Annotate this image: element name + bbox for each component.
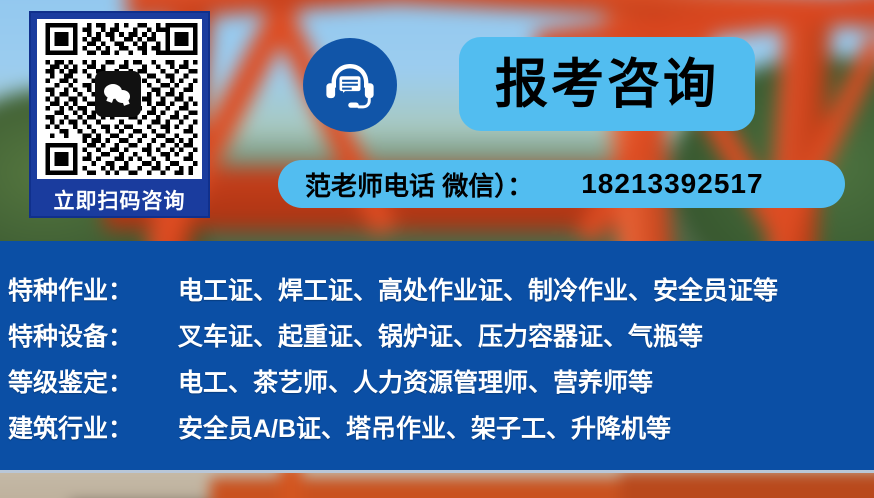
category-row-special-equipment: 特种设备： 叉车证、起重证、锅炉证、压力容器证、气瓶等 <box>8 317 874 363</box>
promo-poster: 立即扫码咨询 报考咨询 范老师电话 微信）： 18213392517 特种作业：… <box>0 0 874 498</box>
category-name: 等级鉴定： <box>8 363 178 399</box>
category-row-construction-industry: 建筑行业： 安全员A/B证、塔吊作业、架子工、升降机等 <box>8 409 874 455</box>
qr-code-card[interactable]: 立即扫码咨询 <box>29 11 210 218</box>
category-name: 建筑行业： <box>8 409 178 445</box>
category-items: 电工、茶艺师、人力资源管理师、营养师等 <box>178 363 653 399</box>
footer-post <box>280 470 302 498</box>
headset-glyph <box>322 57 378 113</box>
footer-edge-line <box>0 470 874 473</box>
contact-pill[interactable]: 范老师电话 微信）： 18213392517 <box>278 160 845 208</box>
footer-orange-beam-right <box>620 472 874 498</box>
blurred-footer-photo <box>0 470 874 498</box>
headline-text: 报考咨询 <box>495 58 719 111</box>
category-items: 叉车证、起重证、锅炉证、压力容器证、气瓶等 <box>178 317 703 353</box>
footer-photo-strip <box>0 470 874 498</box>
category-row-grade-appraisal: 等级鉴定： 电工、茶艺师、人力资源管理师、营养师等 <box>8 363 874 409</box>
qr-code-image[interactable] <box>37 19 202 179</box>
category-name: 特种作业： <box>8 271 178 307</box>
category-name: 特种设备： <box>8 317 178 353</box>
qr-caption: 立即扫码咨询 <box>37 179 202 220</box>
headline-pill: 报考咨询 <box>459 37 755 131</box>
category-row-special-operations: 特种作业： 电工证、焊工证、高处作业证、制冷作业、安全员证等 <box>8 271 874 317</box>
category-items: 电工证、焊工证、高处作业证、制冷作业、安全员证等 <box>178 271 778 307</box>
contact-phone-number[interactable]: 18213392517 <box>581 168 763 200</box>
headset-support-icon <box>303 38 397 132</box>
certificate-category-panel: 特种作业： 电工证、焊工证、高处作业证、制冷作业、安全员证等 特种设备： 叉车证… <box>0 241 874 470</box>
wechat-icon <box>95 71 141 117</box>
category-items: 安全员A/B证、塔吊作业、架子工、升降机等 <box>178 409 671 445</box>
footer-orange-beam <box>210 478 640 498</box>
contact-label: 范老师电话 微信）： <box>305 166 533 203</box>
